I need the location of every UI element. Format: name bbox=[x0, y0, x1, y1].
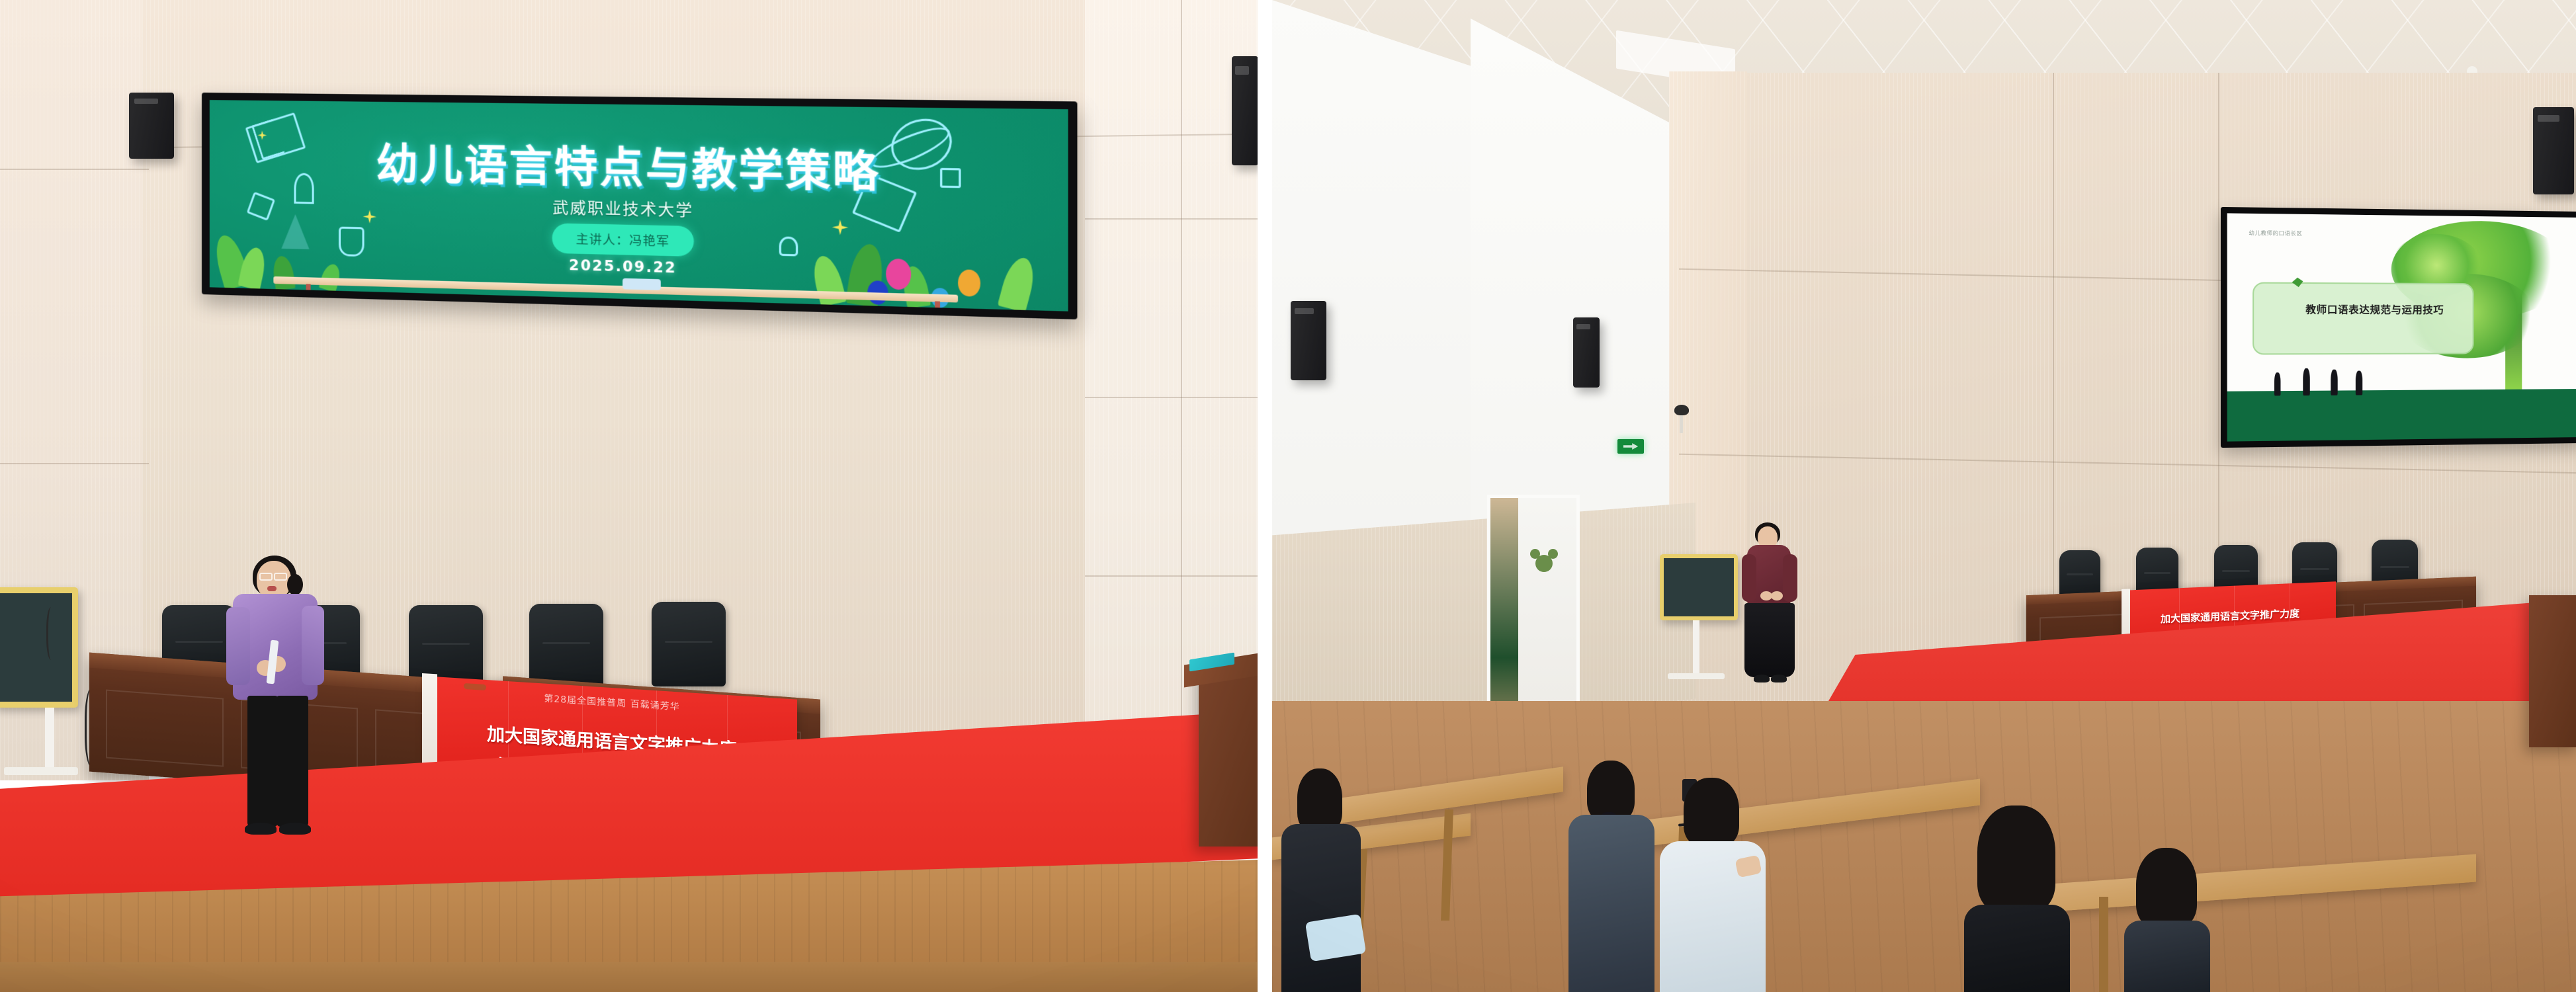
presenter-right bbox=[1738, 522, 1801, 694]
slide-child-silhouette bbox=[2274, 372, 2280, 395]
slide-eraser-decor bbox=[623, 278, 661, 290]
presentation-slide: 幼儿语言特点与教学策略 武威职业技术大学 主讲人：冯艳军 2025.09.22 bbox=[210, 100, 1068, 311]
monitor-stand-pole bbox=[1693, 620, 1699, 676]
shoe-left bbox=[1754, 675, 1770, 682]
collage-divider bbox=[1258, 0, 1272, 992]
podium bbox=[1199, 668, 1258, 847]
shoe-right bbox=[1771, 675, 1787, 682]
slide-child-silhouette bbox=[2356, 370, 2362, 395]
projection-screen: 幼儿教师的口语长区 教师口语表达规范与运用技巧 bbox=[2221, 207, 2576, 448]
presenter-left bbox=[218, 556, 337, 840]
arm-right bbox=[1783, 554, 1797, 602]
wall-seam bbox=[0, 463, 149, 464]
leg-left bbox=[247, 696, 278, 827]
slide-child-silhouette bbox=[2303, 368, 2310, 395]
slide-ground bbox=[2227, 389, 2576, 442]
wall-seam bbox=[1085, 218, 1258, 220]
torso bbox=[2124, 921, 2210, 992]
stage-chair bbox=[409, 605, 483, 687]
desk-leg bbox=[2099, 897, 2108, 992]
slide-child-silhouette bbox=[2331, 369, 2338, 395]
slide-foliage-decor bbox=[210, 216, 1068, 311]
left-photo: 幼儿语言特点与教学策略 武威职业技术大学 主讲人：冯艳军 2025.09.22 bbox=[0, 0, 1258, 992]
photo-collage: 幼儿语言特点与教学策略 武威职业技术大学 主讲人：冯艳军 2025.09.22 bbox=[0, 0, 2576, 992]
podium bbox=[2529, 595, 2576, 747]
monitor-stand-pole bbox=[45, 708, 54, 771]
eyeglasses bbox=[274, 573, 287, 581]
torso bbox=[1964, 905, 2070, 992]
stage-chair bbox=[652, 602, 726, 686]
slide-title-box bbox=[2253, 282, 2474, 354]
hall-floor bbox=[0, 962, 1258, 992]
audience-member bbox=[1568, 761, 1654, 992]
hall-floor bbox=[1272, 701, 2576, 992]
balloon-pink bbox=[886, 259, 911, 290]
monitor-screen bbox=[0, 587, 78, 708]
wall-speaker-right-icon bbox=[2533, 107, 2574, 194]
security-camera-icon bbox=[1674, 405, 1689, 415]
led-display: 幼儿语言特点与教学策略 武威职业技术大学 主讲人：冯艳军 2025.09.22 bbox=[202, 93, 1077, 319]
slide-header: 幼儿教师的口语长区 bbox=[2249, 229, 2302, 237]
arm-left bbox=[1742, 554, 1756, 602]
monitor-stand-base bbox=[1668, 673, 1725, 679]
hair bbox=[1977, 806, 2055, 911]
wall-seam bbox=[1181, 0, 1182, 827]
audience-member bbox=[1281, 768, 1361, 992]
leg-right bbox=[277, 696, 308, 827]
wall-seam bbox=[1085, 575, 1258, 577]
monitor-stand-base bbox=[4, 767, 78, 775]
projected-slide: 幼儿教师的口语长区 教师口语表达规范与运用技巧 bbox=[2227, 213, 2576, 441]
eyeglasses bbox=[259, 573, 273, 581]
wall-speaker-right-icon bbox=[1232, 56, 1258, 165]
torso bbox=[1568, 815, 1654, 992]
hand-right bbox=[1771, 591, 1783, 600]
wall-speaker-mid-icon bbox=[1573, 317, 1600, 388]
stage-chair bbox=[529, 604, 603, 687]
skirt bbox=[1744, 603, 1795, 677]
wall-speaker-left-icon bbox=[1291, 301, 1326, 380]
right-photo: 幼儿教师的口语长区 教师口语表达规范与运用技巧 bbox=[1272, 0, 2576, 992]
arm-left bbox=[226, 607, 250, 685]
exit-sign-icon bbox=[1617, 439, 1644, 454]
audience-member bbox=[1964, 806, 2070, 992]
shoe-left bbox=[245, 823, 277, 835]
hair-bun bbox=[287, 574, 303, 595]
balloon-orange bbox=[958, 269, 980, 297]
wall-speaker-left-icon bbox=[129, 93, 174, 159]
shoe-right bbox=[279, 823, 311, 835]
mouth bbox=[267, 586, 277, 591]
wall-seam bbox=[1085, 397, 1258, 398]
hair bbox=[1684, 778, 1739, 847]
mickey-mouse-decal-icon bbox=[1535, 555, 1553, 572]
hair bbox=[1297, 768, 1342, 832]
monitor-screen bbox=[1660, 554, 1738, 620]
torso bbox=[1281, 824, 1361, 992]
wall-seam bbox=[0, 169, 149, 170]
cable bbox=[46, 607, 58, 660]
audience-member bbox=[1660, 778, 1766, 992]
hair bbox=[2136, 848, 2197, 927]
audience-member bbox=[2124, 848, 2210, 992]
arm-right bbox=[302, 606, 324, 685]
slide-title: 教师口语表达规范与运用技巧 bbox=[2256, 302, 2491, 317]
